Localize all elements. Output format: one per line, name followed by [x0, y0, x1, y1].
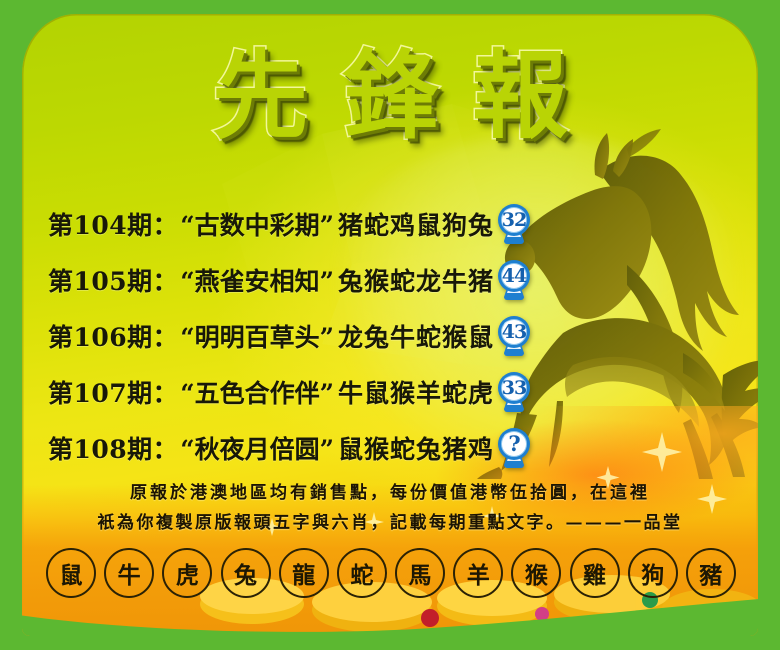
zodiac-sign-monkey: 猴 [511, 548, 561, 598]
lottery-ball-icon: 43 [496, 315, 532, 357]
issue-label: 第107期： [48, 374, 178, 410]
lottery-ball-icon: 44 [496, 259, 532, 301]
notice-line-2: 衹為你複製原版報頭五字與六肖，記載每期重點文字。———一品堂 [0, 508, 780, 538]
zodiac-sign-horse: 馬 [395, 548, 445, 598]
phrase-label: “明明百草头” [180, 318, 334, 354]
zodiac-label: 牛鼠猴羊蛇虎 [338, 374, 494, 410]
footer-notice: 原報於港澳地區均有銷售點，每份價值港幣伍拾圓，在這裡 衹為你複製原版報頭五字與六… [0, 478, 780, 538]
phrase-label: “五色合作伴” [180, 374, 334, 410]
page-title: 先鋒報 [178, 48, 602, 144]
zodiac-sign-rat: 鼠 [46, 548, 96, 598]
zodiac-sign-dog: 狗 [628, 548, 678, 598]
forecast-list: 第104期： “古数中彩期” 猪蛇鸡鼠狗兔 32 第105期： “燕雀安相知” … [48, 196, 688, 476]
zodiac-sign-label: 龍 [292, 556, 315, 590]
zodiac-sign-label: 羊 [467, 556, 490, 590]
lottery-ball-icon: 33 [496, 371, 532, 413]
ball-number: ? [496, 429, 532, 459]
ball-number: 33 [496, 373, 532, 403]
zodiac-label: 龙兔牛蛇猴鼠 [338, 318, 494, 354]
zodiac-sign-goat: 羊 [453, 548, 503, 598]
issue-label: 第106期： [48, 318, 178, 354]
zodiac-sign-rooster: 雞 [570, 548, 620, 598]
issue-label: 第108期： [48, 430, 178, 466]
zodiac-sign-ox: 牛 [104, 548, 154, 598]
forecast-row: 第106期： “明明百草头” 龙兔牛蛇猴鼠 43 [48, 308, 688, 364]
zodiac-sign-rabbit: 兔 [221, 548, 271, 598]
zodiac-sign-pig: 豬 [686, 548, 736, 598]
issue-label: 第105期： [48, 262, 178, 298]
forecast-row: 第105期： “燕雀安相知” 兔猴蛇龙牛猪 44 [48, 252, 688, 308]
zodiac-label: 猪蛇鸡鼠狗兔 [338, 206, 494, 242]
phrase-label: “燕雀安相知” [180, 262, 334, 298]
zodiac-sign-label: 牛 [118, 556, 141, 590]
zodiac-sign-label: 鼠 [60, 556, 83, 590]
zodiac-sign-label: 雞 [583, 556, 606, 590]
zodiac-sign-snake: 蛇 [337, 548, 387, 598]
forecast-row: 第107期： “五色合作伴” 牛鼠猴羊蛇虎 33 [48, 364, 688, 420]
zodiac-sign-label: 蛇 [350, 556, 373, 590]
masthead: 先鋒報 [0, 48, 780, 144]
ball-number: 43 [496, 317, 532, 347]
zodiac-label: 兔猴蛇龙牛猪 [338, 262, 494, 298]
phrase-label: “古数中彩期” [180, 206, 334, 242]
zodiac-sign-label: 猴 [525, 556, 548, 590]
issue-label: 第104期： [48, 206, 178, 242]
zodiac-sign-label: 虎 [176, 556, 199, 590]
phrase-label: “秋夜月倍圆” [180, 430, 334, 466]
zodiac-sign-label: 兔 [234, 556, 257, 590]
zodiac-sign-dragon: 龍 [279, 548, 329, 598]
ball-number: 44 [496, 261, 532, 291]
zodiac-sign-label: 馬 [409, 556, 432, 590]
zodiac-strip: 鼠 牛 虎 兔 龍 蛇 馬 羊 猴 雞 狗 豬 [46, 547, 736, 599]
zodiac-sign-tiger: 虎 [162, 548, 212, 598]
ball-number: 32 [496, 205, 532, 235]
lottery-ball-unknown-icon: ? [496, 427, 532, 469]
notice-line-1: 原報於港澳地區均有銷售點，每份價值港幣伍拾圓，在這裡 [0, 478, 780, 508]
zodiac-sign-label: 狗 [641, 556, 664, 590]
forecast-row: 第108期： “秋夜月倍圆” 鼠猴蛇兔猪鸡 ? [48, 420, 688, 476]
poster-root: 先鋒報 第104期： “古数中彩期” 猪蛇鸡鼠狗兔 32 第105期： “ [0, 0, 780, 650]
forecast-row: 第104期： “古数中彩期” 猪蛇鸡鼠狗兔 32 [48, 196, 688, 252]
zodiac-label: 鼠猴蛇兔猪鸡 [338, 430, 494, 466]
zodiac-sign-label: 豬 [699, 556, 722, 590]
lottery-ball-icon: 32 [496, 203, 532, 245]
